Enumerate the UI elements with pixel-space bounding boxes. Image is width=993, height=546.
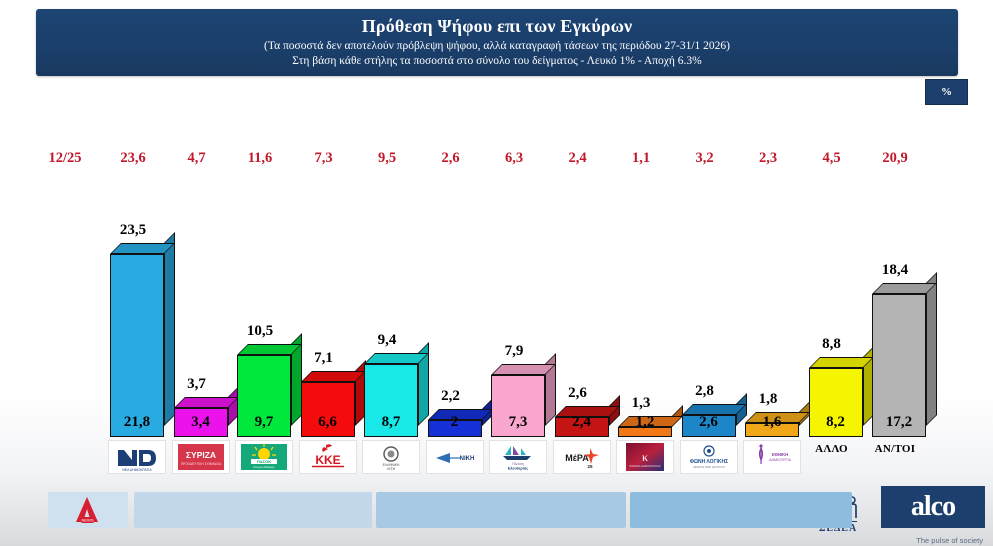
svg-text:ΕΛΛΗΝΙΚΗ: ΕΛΛΗΝΙΚΗ [383,463,400,467]
bar-top-value: 18,4 [868,262,922,279]
party-logo-mera25-icon: ΜέΡΑ 25 [553,440,611,474]
bar-column-4[interactable]: 7,16,6 [301,371,366,437]
bar-column-9[interactable]: 1,31,2 [618,416,683,437]
footer-bar: NEWS ΣΕΔΕΑ alco The pulse of society [0,484,993,546]
bar-inner-value: 8,2 [809,414,863,431]
bar-inner-value: 6,6 [301,414,355,431]
svg-text:ΕΘΝΙΚΗ: ΕΘΝΙΚΗ [772,452,788,457]
bar-top-value: 23,5 [106,222,160,239]
bar-column-12[interactable]: 8,88,2 [809,357,874,437]
party-logo-elliniki-lysi-icon: ΕΛΛΗΝΙΚΗ ΛΥΣΗ [362,440,420,474]
bar-column-10[interactable]: 2,82,6 [682,404,747,437]
bar-inner-value: 1,6 [745,414,799,431]
axis-label-13: ΑΝ/ΤΟΙ [868,443,922,455]
axis-label-12: ΑΛΛΟ [805,443,859,455]
bar-column-11[interactable]: 1,81,6 [745,412,810,437]
bar-top-face [110,243,175,254]
previous-wave-row: 12/25 23,64,711,67,39,52,66,32,41,13,22,… [0,150,993,172]
previous-wave-label: 12/25 [30,150,100,167]
party-logo-foni-logikis-icon: ΦΩΝΗ ΛΟΓΙΚΗΣ ΑΦΗΣΤΕ ΜΑΣ ΗΣΥΧΟΥΣ [680,440,738,474]
bar-inner-value: 9,7 [237,414,291,431]
bar-inner-value: 8,7 [364,414,418,431]
svg-text:κ: κ [642,450,648,464]
bar-top-face [364,353,429,364]
previous-wave-value-3: 11,6 [233,150,287,167]
bar-front-face [110,254,164,437]
bar-top-face [809,357,874,368]
bar-top-value: 9,4 [360,332,414,349]
svg-text:25: 25 [587,464,593,469]
bar-inner-value: 2 [428,414,482,431]
alpha-news-logo: NEWS [48,492,128,528]
bar-top-value: 3,7 [170,376,224,393]
party-logo-syriza-icon: ΣΥΡΙΖΑ ΠΡΟΟΔΕΥΤΙΚΗ ΣΥΜΜΑΧΙΑ [172,440,230,474]
bar-inner-value: 7,3 [491,414,545,431]
party-logo-pasok-icon: ΠΑΣΟΚ Κίνημα Αλλαγής [235,440,293,474]
bar-column-6[interactable]: 2,22 [428,409,493,437]
svg-text:ΜέΡΑ: ΜέΡΑ [565,453,589,463]
svg-text:ΔΗΜΙΟΥΡΓΙΑ: ΔΗΜΙΟΥΡΓΙΑ [769,458,791,462]
svg-text:Πλεύση: Πλεύση [512,462,524,466]
bar-top-value: 8,8 [805,336,859,353]
previous-wave-value-4: 7,3 [297,150,351,167]
alco-logo: alco [881,486,985,528]
bar-top-value: 1,3 [614,395,668,412]
svg-text:ΛΥΣΗ: ΛΥΣΗ [387,467,396,471]
party-logo-kinima-kasselaki-icon: κ ΚΙΝΗΜΑ ΔΗΜΟΚΡΑΤΙΑΣ [616,440,674,474]
previous-wave-value-10: 3,2 [678,150,732,167]
bar-inner-value: 2,4 [555,414,609,431]
bar-column-13[interactable]: 18,417,2 [872,283,937,437]
bar-inner-value: 21,8 [110,414,164,431]
bar-top-value: 1,8 [741,391,795,408]
bar-top-value: 2,6 [551,385,605,402]
previous-wave-value-6: 2,6 [424,150,478,167]
bar-inner-value: 1,2 [618,414,672,431]
bar-column-7[interactable]: 7,97,3 [491,364,556,437]
alco-wordmark: alco [911,493,955,521]
page-title: Πρόθεση Ψήφου επι των Εγκύρων [362,16,633,37]
party-logo-ethniki-dimiourgia-icon: ΕΘΝΙΚΗ ΔΗΜΙΟΥΡΓΙΑ [743,440,801,474]
svg-text:Ελευθερίας: Ελευθερίας [508,467,528,471]
party-logo-plefsi-eleftherias-icon: Πλεύση Ελευθερίας [489,440,547,474]
title-subtitle-base: Στη βάση κάθε στήλης τα ποσοστά στο σύνο… [292,55,701,69]
previous-wave-value-13: 20,9 [868,150,922,167]
bar-column-8[interactable]: 2,62,4 [555,406,620,437]
svg-text:ΠΑΣΟΚ: ΠΑΣΟΚ [257,459,271,464]
party-logo-kke-icon: ΚΚΕ [299,440,357,474]
previous-wave-value-5: 9,5 [360,150,414,167]
bar-top-face [301,371,366,382]
svg-text:NEWS: NEWS [82,518,94,523]
previous-wave-value-2: 4,7 [170,150,224,167]
bar-column-1[interactable]: 23,521,8 [110,243,175,437]
previous-wave-value-8: 2,4 [551,150,605,167]
svg-text:ΚΙΝΗΜΑ ΔΗΜΟΚΡΑΤΙΑΣ: ΚΙΝΗΜΑ ΔΗΜΟΚΡΑΤΙΑΣ [630,464,661,468]
bar-3d [110,243,175,437]
bar-inner-value: 17,2 [872,414,926,431]
bar-top-face [872,283,937,294]
bar-top-face [491,364,556,375]
bar-top-value: 7,1 [297,350,351,367]
party-logo-niki-icon: ΝΙΚΗ [426,440,484,474]
bar-side-face [926,272,937,426]
previous-wave-value-12: 4,5 [805,150,859,167]
bar-top-face [237,344,302,355]
svg-text:ΦΩΝΗ ΛΟΓΙΚΗΣ: ΦΩΝΗ ΛΟΓΙΚΗΣ [689,459,727,465]
bar-inner-value: 3,4 [174,414,228,431]
bar-top-face [174,397,239,408]
svg-text:ΚΚΕ: ΚΚΕ [315,453,340,467]
svg-text:ΝΕΑ ΔΗΜΟΚΡΑΤΙΑ: ΝΕΑ ΔΗΜΟΚΡΑΤΙΑ [122,468,152,472]
bar-column-5[interactable]: 9,48,7 [364,353,429,437]
svg-text:ΠΡΟΟΔΕΥΤΙΚΗ ΣΥΜΜΑΧΙΑ: ΠΡΟΟΔΕΥΤΙΚΗ ΣΥΜΜΑΧΙΑ [180,462,221,466]
bar-inner-value: 2,6 [682,414,736,431]
bar-top-value: 2,2 [424,388,478,405]
footer-segment-2 [376,492,626,528]
previous-wave-value-1: 23,6 [106,150,160,167]
bar-top-value: 7,9 [487,343,541,360]
bar-top-value: 10,5 [233,323,287,340]
previous-wave-value-9: 1,1 [614,150,668,167]
svg-text:ΣΥΡΙΖΑ: ΣΥΡΙΖΑ [185,450,215,460]
bar-top-value: 2,8 [678,383,732,400]
footer-segment-1 [134,492,372,528]
party-logo-nd-icon: ΝΕΑ ΔΗΜΟΚΡΑΤΙΑ [108,440,166,474]
title-subtitle-period: (Τα ποσοστά δεν αποτελούν πρόβλεψη ψήφου… [264,40,730,54]
alco-tagline: The pulse of society [916,536,983,545]
bar-column-3[interactable]: 10,59,7 [237,344,302,437]
svg-text:Κίνημα Αλλαγής: Κίνημα Αλλαγής [253,465,275,469]
title-banner: Πρόθεση Ψήφου επι των Εγκύρων (Τα ποσοστ… [36,9,958,76]
footer-segment-3 [630,492,852,528]
svg-text:ΝΙΚΗ: ΝΙΚΗ [459,456,474,462]
bar-column-2[interactable]: 3,73,4 [174,397,239,437]
percent-unit-badge: % [925,79,968,105]
previous-wave-value-7: 6,3 [487,150,541,167]
bar-chart-plot: 23,521,83,73,410,59,77,16,69,48,72,227,9… [0,0,993,546]
previous-wave-value-11: 2,3 [741,150,795,167]
svg-text:ΑΦΗΣΤΕ ΜΑΣ ΗΣΥΧΟΥΣ: ΑΦΗΣΤΕ ΜΑΣ ΗΣΥΧΟΥΣ [693,465,725,469]
